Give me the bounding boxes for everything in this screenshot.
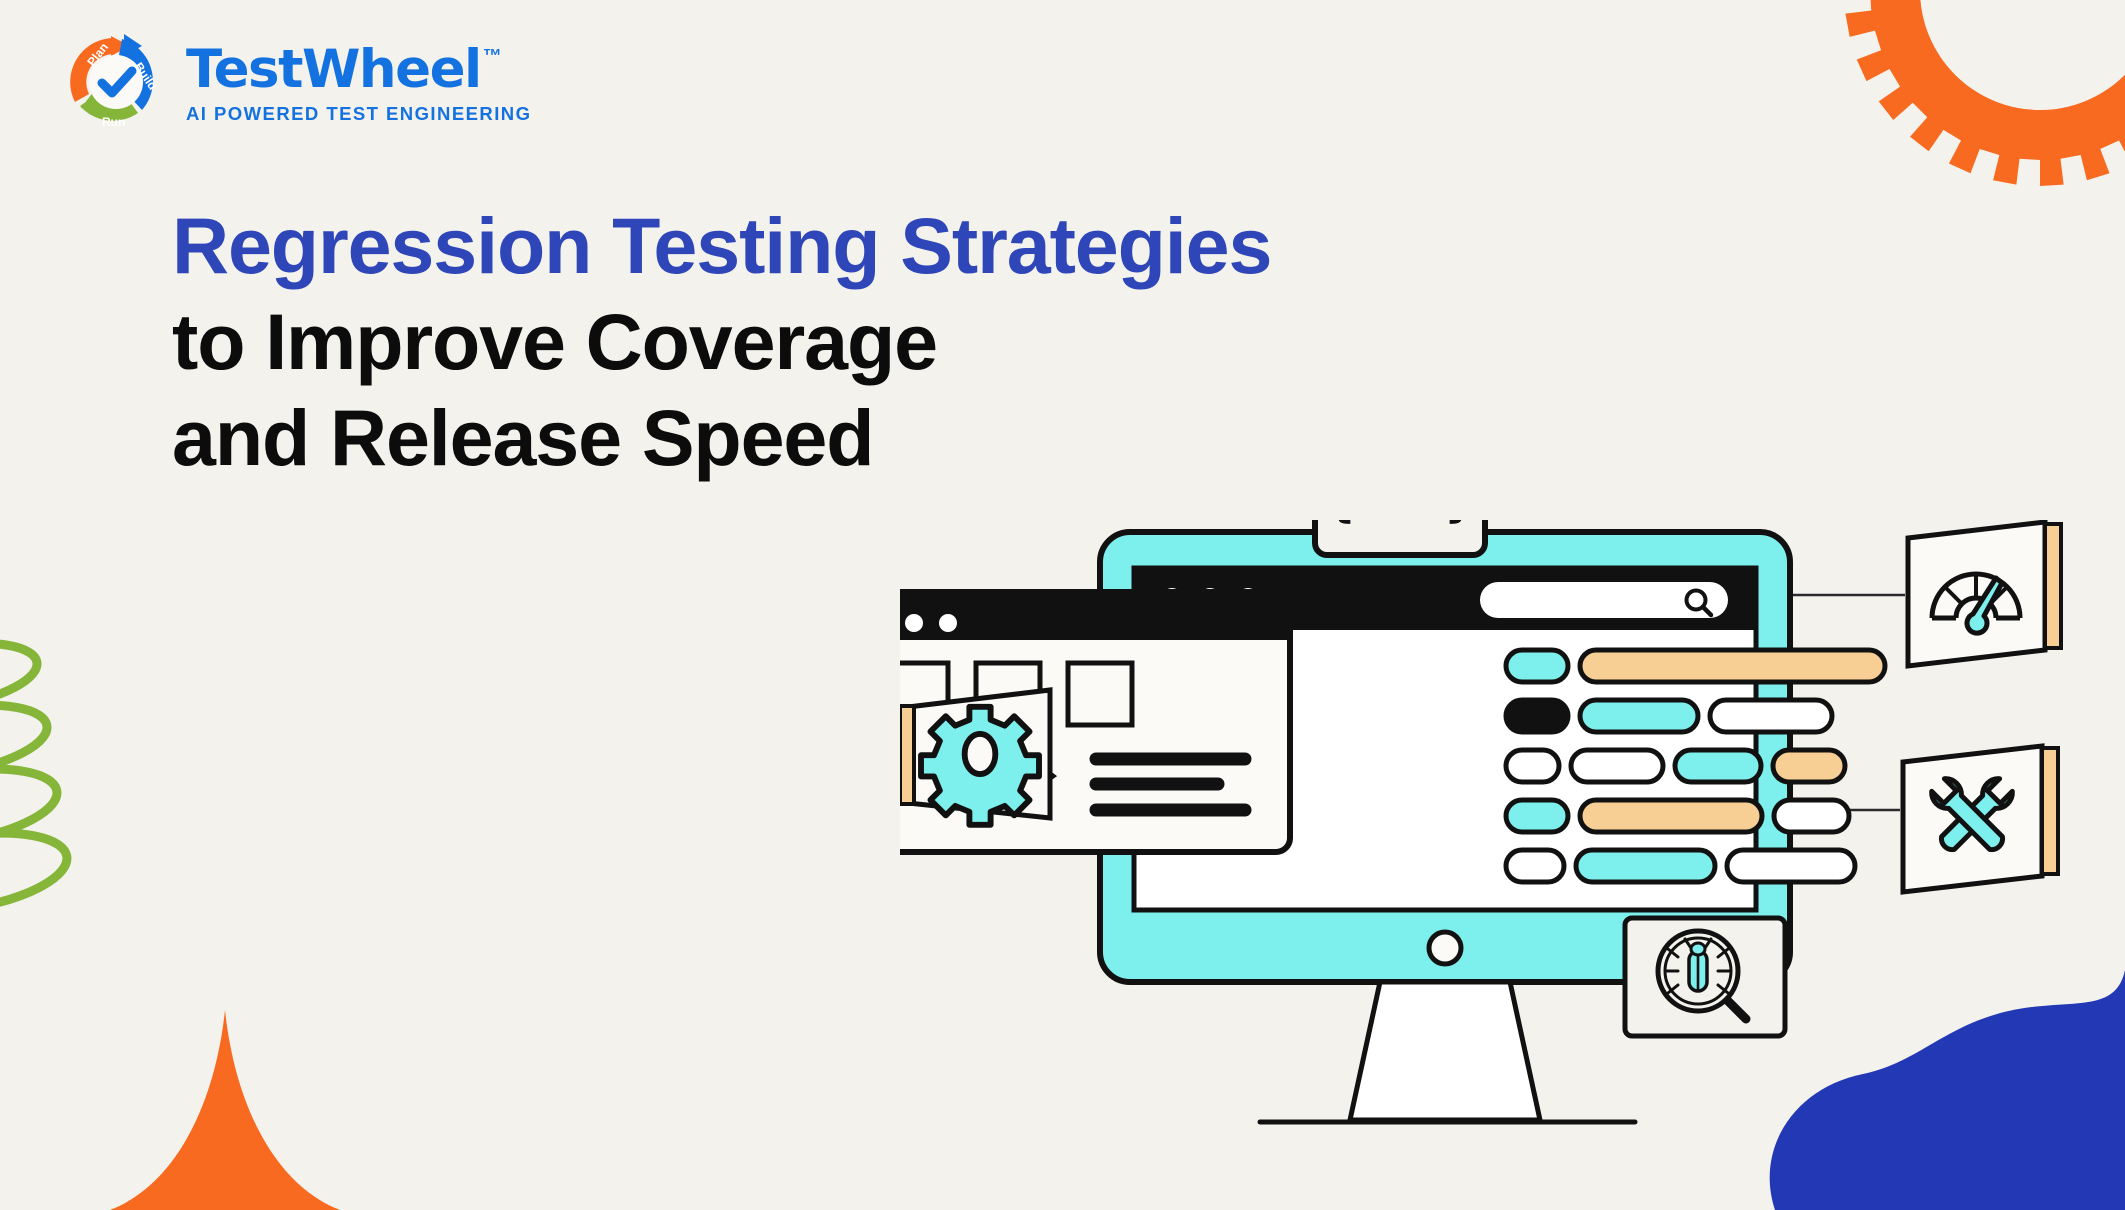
pill[interactable] xyxy=(1576,850,1715,882)
logo-wordmark: TestWheel ™ AI POWERED TEST ENGINEERING xyxy=(186,39,531,125)
headline-line-2: to Improve Coverage xyxy=(172,294,1271,390)
pill[interactable] xyxy=(1580,700,1698,732)
green-spiral-decoration xyxy=(0,630,150,950)
trademark-symbol: ™ xyxy=(483,47,502,66)
sunburst-decoration xyxy=(1835,0,2125,240)
pill[interactable] xyxy=(1710,700,1832,732)
pill[interactable] xyxy=(1580,800,1762,832)
pill-row xyxy=(1506,800,1849,832)
bug-card xyxy=(1625,918,1785,1036)
banner-canvas: Plan Build Run TestWheel ™ AI POWERED TE… xyxy=(0,0,2125,1210)
search-input xyxy=(1480,582,1728,618)
pill[interactable] xyxy=(1580,650,1885,682)
webcam-dot xyxy=(1429,932,1461,964)
pill-row xyxy=(1506,650,1885,682)
brand-tagline: AI POWERED TEST ENGINEERING xyxy=(186,103,531,125)
json-card: { ··· } xyxy=(1315,520,1485,555)
monitor-stand xyxy=(1350,982,1540,1120)
pill-row xyxy=(1506,850,1855,882)
gear-icon xyxy=(921,707,1039,825)
pill[interactable] xyxy=(1571,750,1663,782)
regression-testing-illustration: { ··· } xyxy=(900,520,2090,1170)
pill[interactable] xyxy=(1506,750,1559,782)
plan-build-run-wheel-icon: Plan Build Run xyxy=(62,30,170,134)
pill[interactable] xyxy=(1506,850,1564,882)
pill[interactable] xyxy=(1773,750,1845,782)
pill[interactable] xyxy=(1774,800,1849,832)
pill[interactable] xyxy=(1506,800,1568,832)
orange-spike-decoration xyxy=(110,1010,340,1210)
pill[interactable] xyxy=(1727,850,1855,882)
brand-name: TestWheel xyxy=(186,43,481,96)
logo[interactable]: Plan Build Run TestWheel ™ AI POWERED TE… xyxy=(62,30,531,134)
pill-row xyxy=(1506,700,1832,732)
tools-card xyxy=(1903,746,2058,892)
headline-line-1: Regression Testing Strategies xyxy=(172,198,1271,294)
headline-line-3: and Release Speed xyxy=(172,390,1271,486)
pill[interactable] xyxy=(1675,750,1761,782)
page-title: Regression Testing Strategies to Improve… xyxy=(172,198,1271,486)
json-glyph: { ··· } xyxy=(1323,520,1478,528)
pill[interactable] xyxy=(1506,650,1568,682)
gear-card xyxy=(900,690,1050,825)
gauge-card xyxy=(1908,522,2061,666)
wheel-label-run: Run xyxy=(102,115,125,129)
pill[interactable] xyxy=(1506,700,1568,732)
